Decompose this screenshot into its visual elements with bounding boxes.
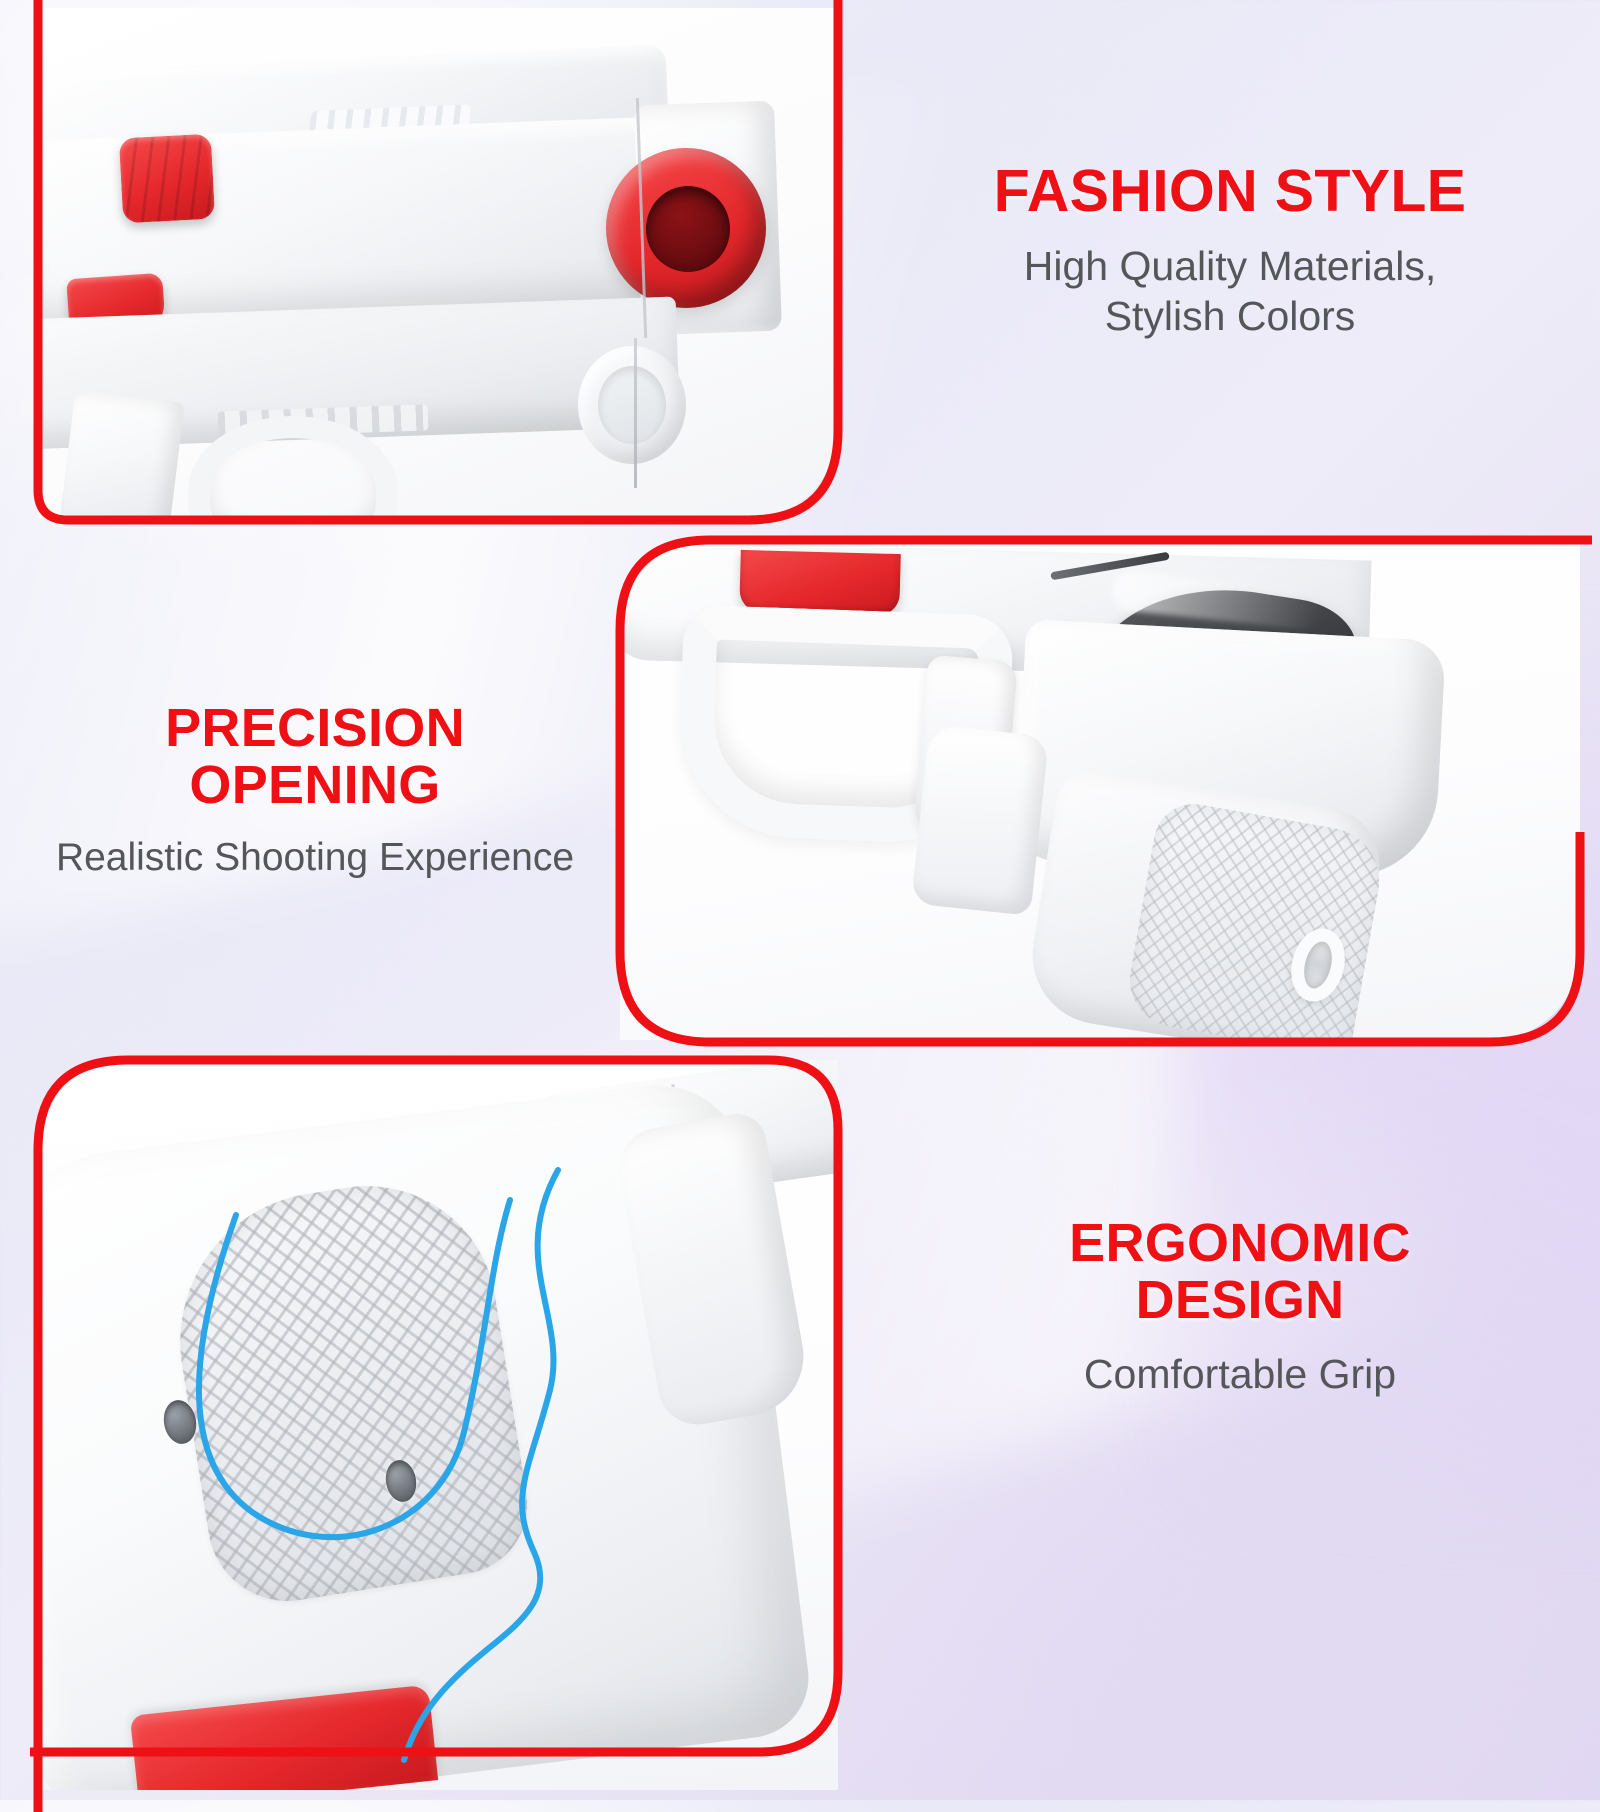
feature-subtitle-line2: Stylish Colors — [880, 291, 1580, 341]
feature-subtitle-fashion-style: High Quality Materials, Stylish Colors — [880, 241, 1580, 341]
feature-subtitle-line1: High Quality Materials, — [880, 241, 1580, 291]
feature-text-precision-opening: PRECISION OPENING Realistic Shooting Exp… — [10, 700, 620, 882]
feature-subtitle-precision-opening: Realistic Shooting Experience — [10, 834, 620, 882]
photo-barrel-closeup — [38, 8, 838, 518]
feature-text-fashion-style: FASHION STYLE High Quality Materials, St… — [880, 160, 1580, 341]
feature-headline-ergonomic-design: ERGONOMIC DESIGN — [900, 1215, 1580, 1329]
gun-seam-line — [634, 338, 637, 488]
photo-grip-closeup — [38, 1060, 838, 1790]
feature-headline-fashion-style: FASHION STYLE — [880, 160, 1580, 223]
gun-muzzle-bore — [646, 186, 730, 272]
feature-image-fashion-style — [38, 8, 838, 518]
feature-image-precision-opening — [620, 540, 1580, 1040]
feature-headline-line2: DESIGN — [900, 1272, 1580, 1329]
photo-trigger-closeup — [620, 540, 1580, 1040]
feature-headline-line1: ERGONOMIC — [900, 1215, 1580, 1272]
infographic-stage: FASHION STYLE High Quality Materials, St… — [0, 0, 1600, 1800]
feature-subtitle-ergonomic-design: Comfortable Grip — [900, 1349, 1580, 1399]
feature-text-ergonomic-design: ERGONOMIC DESIGN Comfortable Grip — [900, 1215, 1580, 1399]
feature-headline-precision-opening: PRECISION OPENING — [10, 700, 620, 814]
feature-headline-line1: PRECISION — [10, 700, 620, 757]
gun-magazine-column — [911, 724, 1049, 916]
gun-grip-backstrap — [57, 390, 184, 518]
feature-image-ergonomic-design — [38, 1060, 838, 1790]
gun-fill-port-inner — [598, 366, 666, 444]
gun-slide-stop-button — [119, 134, 215, 224]
feature-headline-line2: OPENING — [10, 757, 620, 814]
gun-grip-texture-pad — [1122, 798, 1387, 1040]
ergonomic-annotation-curves — [38, 1060, 838, 1790]
